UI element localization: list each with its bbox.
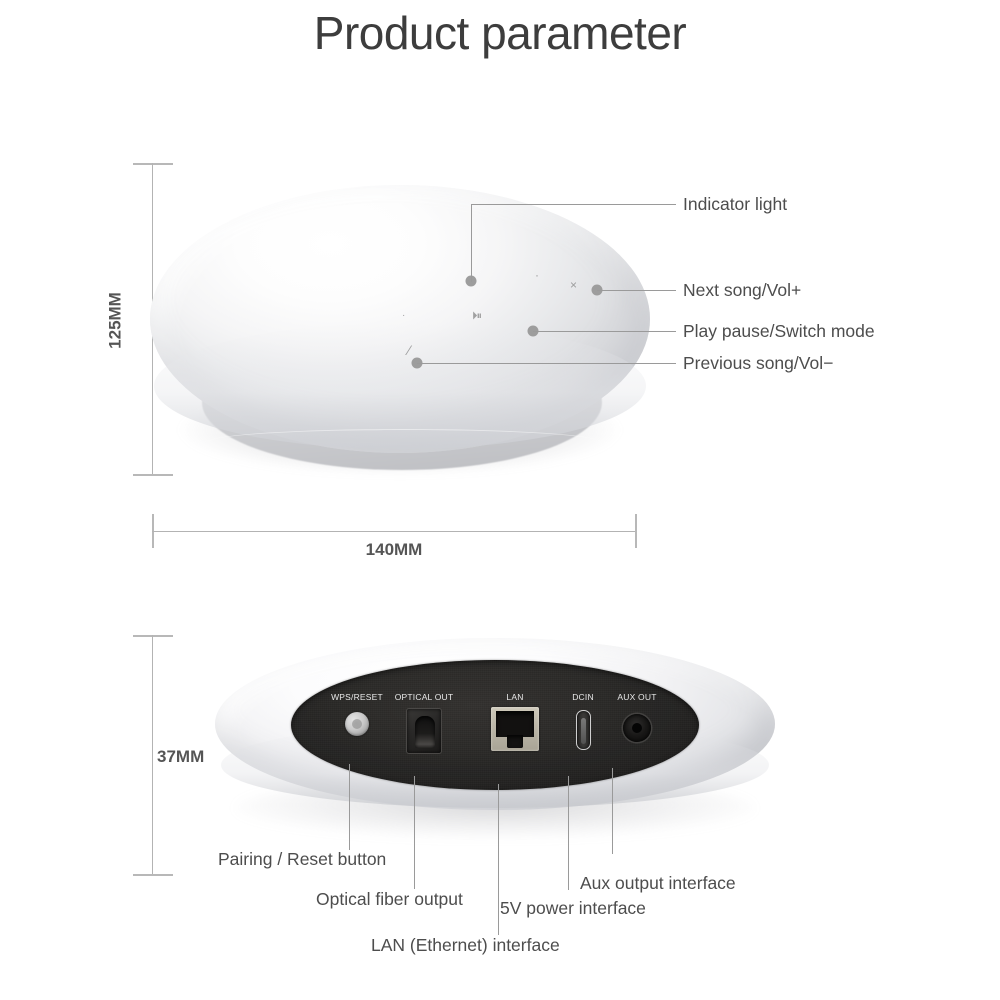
leader-line-indicator-vertical — [471, 204, 472, 282]
dimension-label-125mm: 125MM — [107, 284, 124, 358]
dimension-line-rear-vertical — [152, 635, 153, 875]
glyph-play-pause-icon: ⏵⏸ — [472, 311, 481, 322]
callout-label-5v-power: 5V power interface — [500, 900, 646, 918]
leader-line-aux-output — [612, 768, 613, 854]
page-title: Product parameter — [0, 6, 1000, 60]
leader-line-previous-song — [417, 363, 676, 364]
glyph-small-icon: · — [402, 311, 405, 321]
port-label-optical-out: OPTICAL OUT — [395, 693, 454, 702]
port-dc-in-micro-usb[interactable] — [576, 710, 591, 750]
port-wps-reset-button[interactable] — [345, 712, 369, 736]
leader-line-optical-fiber — [414, 776, 415, 889]
port-lan-rj45[interactable] — [491, 707, 539, 751]
callout-label-lan-ethernet: LAN (Ethernet) interface — [371, 937, 560, 955]
speaker-rear-image: WPS/RESET OPTICAL OUT LAN DCIN AUX OUT — [215, 638, 775, 833]
leader-line-lan-ethernet — [498, 784, 499, 935]
speaker-top-image: ⌄ · × · ⏵⏸ ⁄ — [150, 185, 650, 485]
callout-label-optical-fiber: Optical fiber output — [316, 891, 463, 909]
port-label-lan: LAN — [506, 693, 523, 702]
glyph-previous-icon: ⁄ — [408, 343, 410, 357]
leader-line-pairing-reset — [349, 764, 350, 850]
dimension-tick-rear-bottom — [133, 874, 173, 876]
port-optical-out[interactable] — [406, 708, 442, 754]
glyph-next-icon: × — [570, 279, 577, 291]
glyph-dot-icon: · — [535, 269, 539, 281]
dimension-tick-top — [133, 163, 173, 165]
callout-label-pairing-reset: Pairing / Reset button — [218, 851, 386, 869]
port-label-wps-reset: WPS/RESET — [331, 693, 383, 702]
rear-io-panel: WPS/RESET OPTICAL OUT LAN DCIN AUX OUT — [291, 660, 699, 790]
port-label-aux-out: AUX OUT — [617, 693, 656, 702]
callout-label-aux-output: Aux output interface — [580, 875, 736, 893]
speaker-seam — [208, 429, 600, 455]
dimension-line-horizontal — [152, 531, 636, 532]
port-label-dc-in: DCIN — [572, 693, 594, 702]
leader-line-indicator-horizontal — [471, 204, 676, 205]
callout-label-indicator-light: Indicator light — [683, 196, 787, 214]
speaker-dome-body — [150, 185, 650, 453]
port-aux-out-jack[interactable] — [623, 714, 651, 742]
callout-label-previous-song: Previous song/Vol− — [683, 355, 833, 373]
callout-label-play-pause: Play pause/Switch mode — [683, 323, 875, 341]
dimension-label-37mm: 37MM — [157, 748, 204, 765]
dimension-label-140mm: 140MM — [0, 541, 788, 558]
leader-line-next-song — [597, 290, 676, 291]
product-parameter-diagram: Product parameter 125MM ⌄ · × · ⏵⏸ ⁄ — [0, 0, 1000, 1000]
leader-line-5v-power — [568, 776, 569, 890]
callout-label-next-song: Next song/Vol+ — [683, 282, 801, 300]
dimension-tick-rear-top — [133, 635, 173, 637]
leader-line-play-pause — [533, 331, 676, 332]
